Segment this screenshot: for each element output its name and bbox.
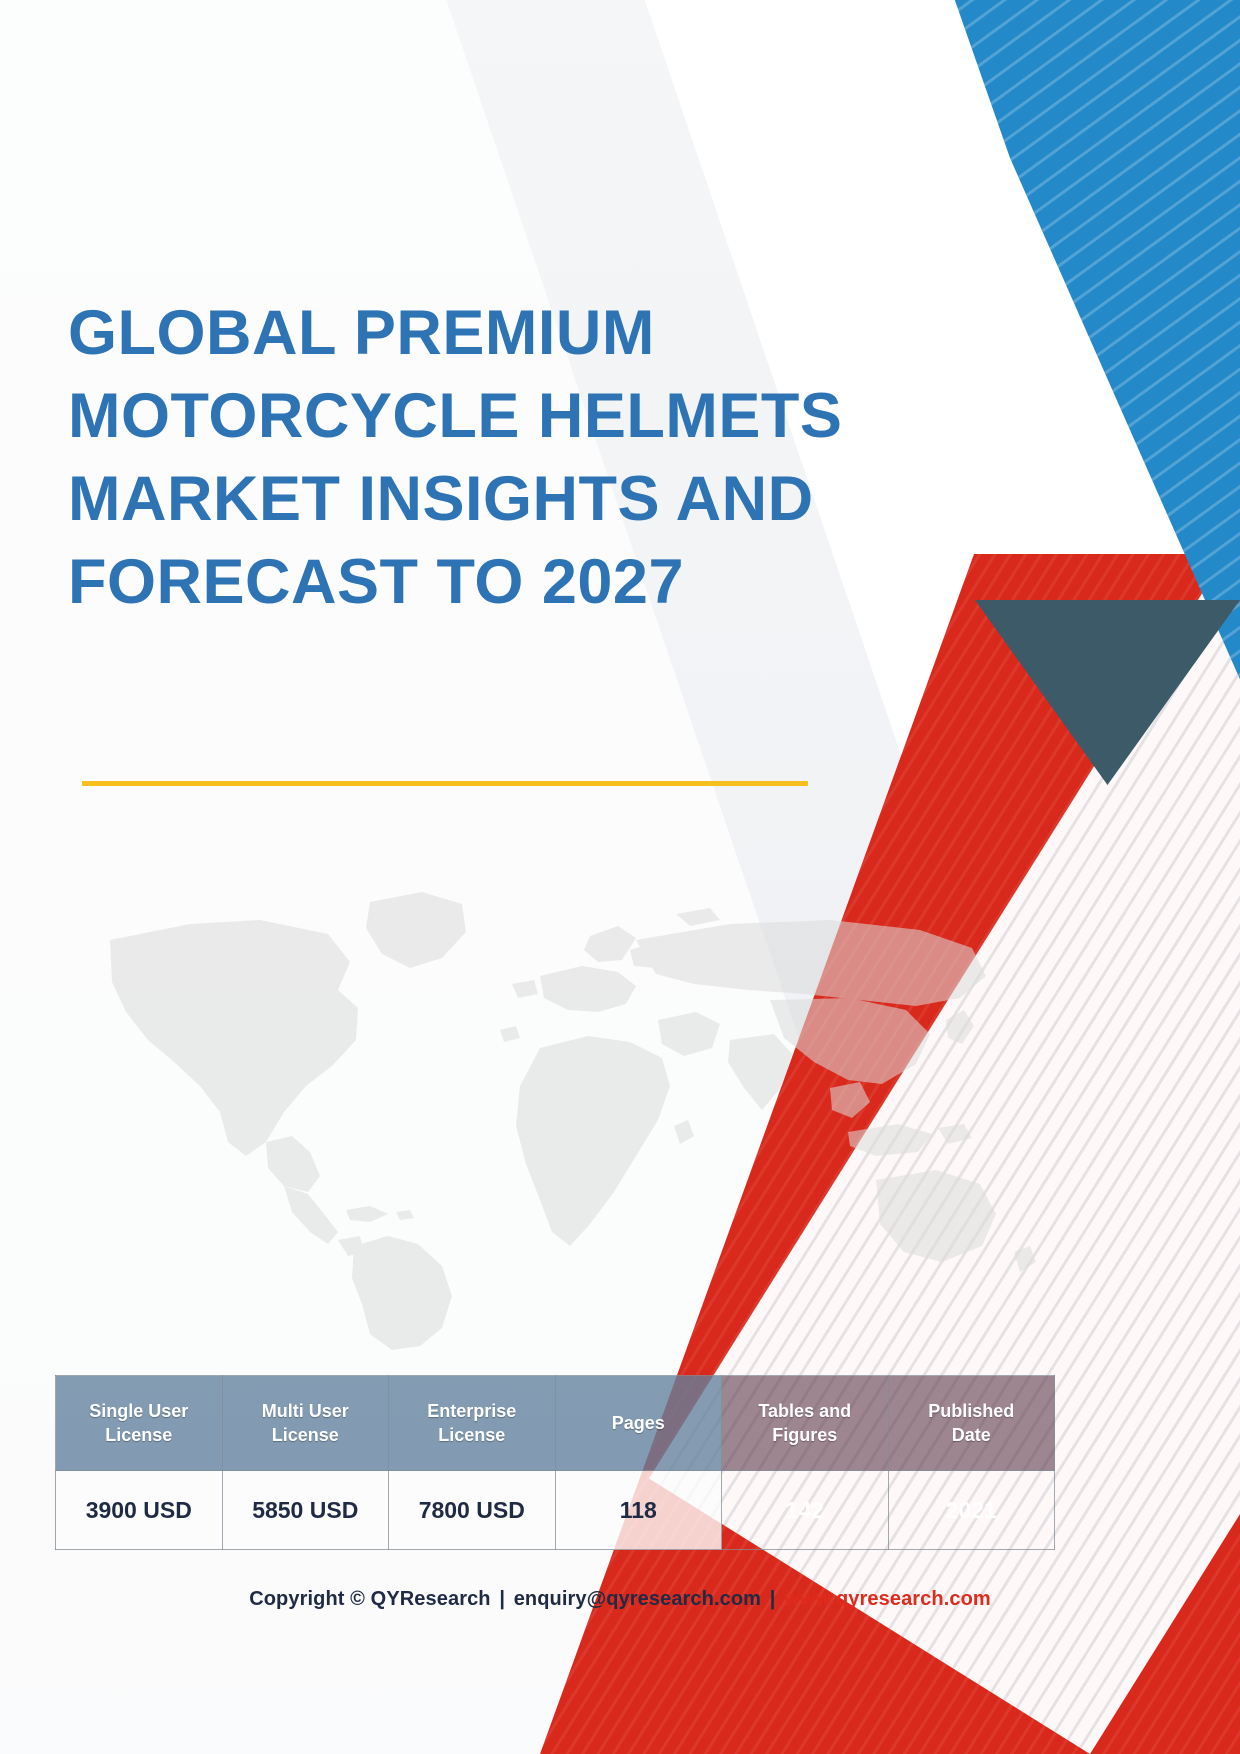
- copyright-text: Copyright © QYResearch: [249, 1588, 490, 1610]
- world-map-watermark: [70, 880, 1070, 1350]
- page-title: GLOBAL PREMIUM MOTORCYCLE HELMETS MARKET…: [68, 292, 858, 625]
- header-line-1: Pages: [556, 1411, 722, 1435]
- value-pages: 118: [555, 1471, 722, 1550]
- header-enterprise-license: Enterprise License: [389, 1376, 556, 1471]
- header-line-2: Figures: [722, 1423, 888, 1447]
- footer-separator-1: |: [496, 1588, 508, 1610]
- value-published-date: 2021: [888, 1471, 1055, 1550]
- header-published-date: Published Date: [888, 1376, 1055, 1471]
- value-enterprise-license: 7800 USD: [389, 1471, 556, 1550]
- value-single-user-license: 3900 USD: [56, 1471, 223, 1550]
- report-cover-page: GLOBAL PREMIUM MOTORCYCLE HELMETS MARKET…: [0, 0, 1240, 1754]
- footer-copyright-bar: Copyright © QYResearch | enquiry@qyresea…: [0, 1588, 1240, 1611]
- header-line-2: License: [223, 1423, 389, 1447]
- website-link[interactable]: www.qyresearch.com: [784, 1588, 991, 1610]
- header-line-1: Enterprise: [389, 1399, 555, 1423]
- header-line-2: Date: [889, 1423, 1055, 1447]
- header-single-user-license: Single User License: [56, 1376, 223, 1471]
- header-line-1: Multi User: [223, 1399, 389, 1423]
- value-tables-and-figures: 142: [722, 1471, 889, 1550]
- header-line-2: License: [389, 1423, 555, 1447]
- title-block: GLOBAL PREMIUM MOTORCYCLE HELMETS MARKET…: [68, 292, 858, 625]
- header-tables-and-figures: Tables and Figures: [722, 1376, 889, 1471]
- header-multi-user-license: Multi User License: [222, 1376, 389, 1471]
- header-pages: Pages: [555, 1376, 722, 1471]
- table-row: 3900 USD 5850 USD 7800 USD 118 142 2021: [56, 1471, 1055, 1550]
- header-line-1: Tables and: [722, 1399, 888, 1423]
- value-multi-user-license: 5850 USD: [222, 1471, 389, 1550]
- contact-email[interactable]: enquiry@qyresearch.com: [514, 1588, 761, 1610]
- header-line-2: License: [56, 1423, 222, 1447]
- table-header-row: Single User License Multi User License E…: [56, 1376, 1055, 1471]
- header-line-1: Single User: [56, 1399, 222, 1423]
- report-info-table: Single User License Multi User License E…: [55, 1375, 1055, 1550]
- header-line-1: Published: [889, 1399, 1055, 1423]
- title-accent-rule: [82, 781, 808, 786]
- footer-separator-2: |: [767, 1588, 779, 1610]
